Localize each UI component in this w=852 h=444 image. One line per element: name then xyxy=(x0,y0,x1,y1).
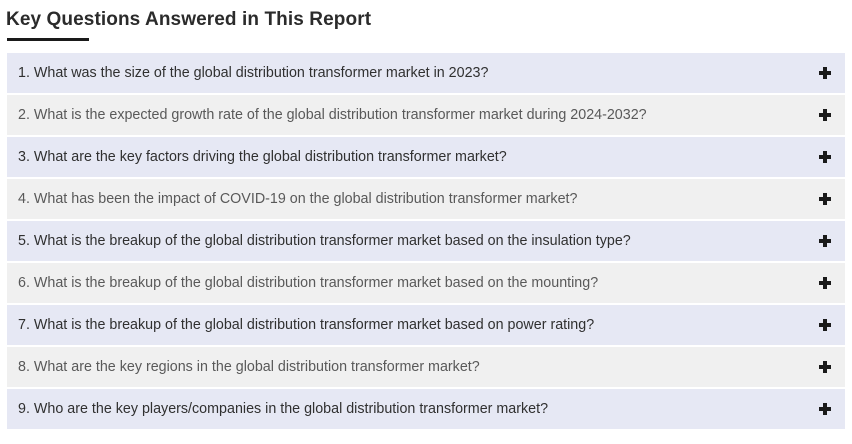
faq-question-label: 9. Who are the key players/companies in … xyxy=(18,400,811,418)
faq-row[interactable]: 6. What is the breakup of the global dis… xyxy=(7,263,845,303)
faq-row[interactable]: 5. What is the breakup of the global dis… xyxy=(7,221,845,261)
plus-icon[interactable] xyxy=(819,109,831,121)
faq-question-label: 4. What has been the impact of COVID-19 … xyxy=(18,190,811,208)
plus-icon[interactable] xyxy=(819,361,831,373)
page-root: Key Questions Answered in This Report 1.… xyxy=(0,0,852,444)
plus-icon[interactable] xyxy=(819,193,831,205)
faq-row[interactable]: 1. What was the size of the global distr… xyxy=(7,53,845,93)
faq-row[interactable]: 8. What are the key regions in the globa… xyxy=(7,347,845,387)
faq-accordion-list: 1. What was the size of the global distr… xyxy=(0,53,852,429)
faq-question-label: 5. What is the breakup of the global dis… xyxy=(18,232,811,250)
faq-row[interactable]: 9. Who are the key players/companies in … xyxy=(7,389,845,429)
faq-row[interactable]: 2. What is the expected growth rate of t… xyxy=(7,95,845,135)
faq-row[interactable]: 4. What has been the impact of COVID-19 … xyxy=(7,179,845,219)
faq-question-label: 3. What are the key factors driving the … xyxy=(18,148,811,166)
title-underline xyxy=(7,38,89,41)
plus-icon[interactable] xyxy=(819,235,831,247)
plus-icon[interactable] xyxy=(819,403,831,415)
plus-icon[interactable] xyxy=(819,67,831,79)
faq-row[interactable]: 7. What is the breakup of the global dis… xyxy=(7,305,845,345)
faq-row[interactable]: 3. What are the key factors driving the … xyxy=(7,137,845,177)
faq-question-label: 8. What are the key regions in the globa… xyxy=(18,358,811,376)
page-title: Key Questions Answered in This Report xyxy=(6,8,852,38)
faq-question-label: 2. What is the expected growth rate of t… xyxy=(18,106,811,124)
plus-icon[interactable] xyxy=(819,319,831,331)
plus-icon[interactable] xyxy=(819,277,831,289)
page-header: Key Questions Answered in This Report xyxy=(0,0,852,41)
faq-question-label: 1. What was the size of the global distr… xyxy=(18,64,811,82)
plus-icon[interactable] xyxy=(819,151,831,163)
faq-question-label: 7. What is the breakup of the global dis… xyxy=(18,316,811,334)
faq-question-label: 6. What is the breakup of the global dis… xyxy=(18,274,811,292)
